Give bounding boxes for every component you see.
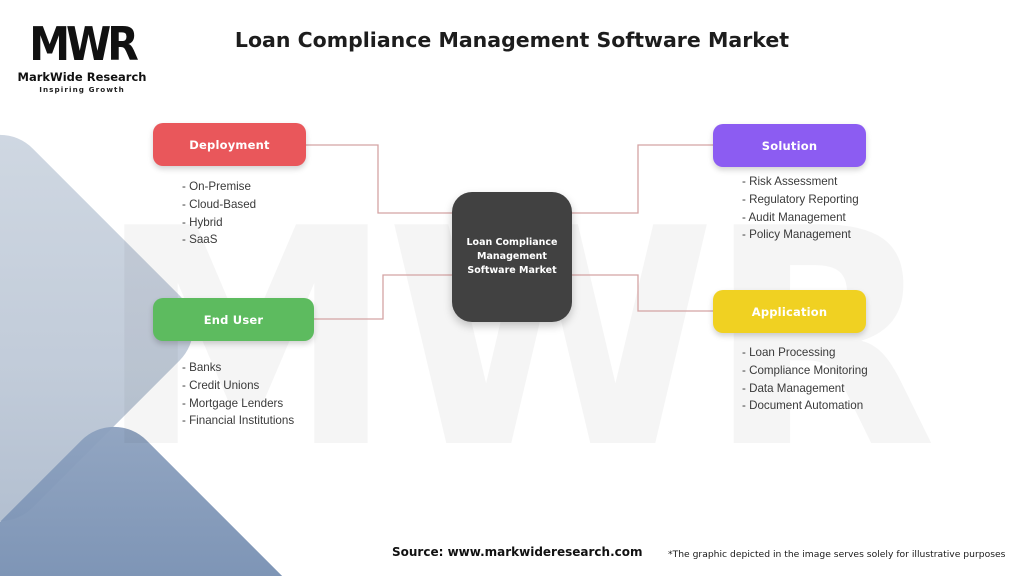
list-item: - Financial Institutions [182,412,294,430]
list-item: - Data Management [742,380,868,398]
connector-solution [572,145,713,213]
list-item: - Policy Management [742,226,859,244]
node-solution-label: Solution [762,139,817,153]
node-application[interactable]: Application [713,290,866,333]
list-item: - SaaS [182,231,256,249]
list-item: - Document Automation [742,397,868,415]
node-center-line-1: Loan Compliance [466,236,557,250]
node-end-user-label: End User [204,313,264,327]
node-center-label: Loan Compliance Management Software Mark… [466,236,557,278]
list-item: - Audit Management [742,209,859,227]
node-center-line-2: Management [466,250,557,264]
node-center-line-3: Software Market [466,264,557,278]
list-item: - Credit Unions [182,377,294,395]
infographic-page: MWR MWR MarkWide Research Inspiring Grow… [0,0,1024,576]
list-item: - Cloud-Based [182,196,256,214]
list-item: - Mortgage Lenders [182,395,294,413]
list-solution-items: - Risk Assessment - Regulatory Reporting… [742,173,859,244]
list-item: - Regulatory Reporting [742,191,859,209]
connector-application [572,275,713,311]
list-deployment-items: - On-Premise - Cloud-Based - Hybrid - Sa… [182,178,256,249]
disclaimer-text: *The graphic depicted in the image serve… [668,549,1005,560]
list-item: - Risk Assessment [742,173,859,191]
connector-end-user [314,275,452,319]
list-application-items: - Loan Processing - Compliance Monitorin… [742,344,868,415]
node-deployment-label: Deployment [189,138,269,152]
node-end-user[interactable]: End User [153,298,314,341]
source-text: Source: www.markwideresearch.com [392,545,642,559]
list-item: - Loan Processing [742,344,868,362]
node-solution[interactable]: Solution [713,124,866,167]
list-end-user-items: - Banks - Credit Unions - Mortgage Lende… [182,359,294,430]
connector-deployment [306,145,452,213]
list-item: - Hybrid [182,214,256,232]
list-item: - Banks [182,359,294,377]
node-center-market[interactable]: Loan Compliance Management Software Mark… [452,192,572,322]
node-application-label: Application [752,305,828,319]
list-item: - On-Premise [182,178,256,196]
list-item: - Compliance Monitoring [742,362,868,380]
node-deployment[interactable]: Deployment [153,123,306,166]
